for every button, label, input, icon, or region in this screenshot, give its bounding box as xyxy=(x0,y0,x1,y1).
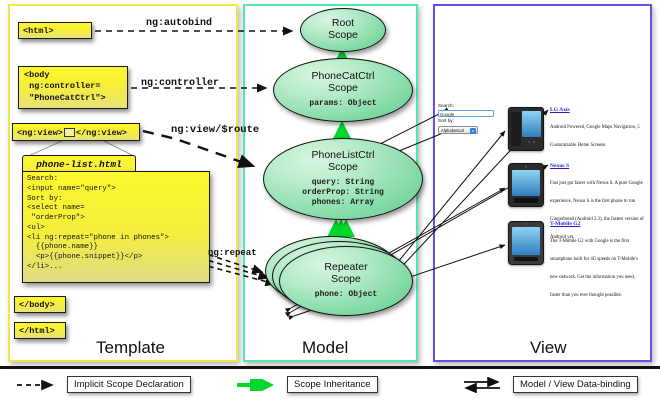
scope-phonecatctrl-name: PhoneCatCtrl Scope xyxy=(311,71,374,95)
scope-repeater-name: Repeater Scope xyxy=(324,262,367,286)
file-note-phone-list: phone-list.html Search: <input name="que… xyxy=(22,155,200,285)
search-input[interactable]: Google xyxy=(438,110,494,117)
phone-snippet: Android Powered, Google Maps Navigation,… xyxy=(550,125,640,148)
code-box-body-close: </body> xyxy=(14,296,66,313)
diagram-canvas: Template Model View xyxy=(0,0,660,405)
ngview-slot-icon xyxy=(64,128,75,137)
panel-template-label: Template xyxy=(96,338,165,358)
code-box-html-close: </html> xyxy=(14,322,66,339)
sort-select[interactable]: Alphabetical xyxy=(438,126,478,134)
panel-view-label: View xyxy=(530,338,567,358)
legend-label: Implicit Scope Declaration xyxy=(67,376,191,393)
ngview-open-tag: <ng:view> xyxy=(17,128,63,138)
chevron-updown-icon xyxy=(470,128,476,134)
phone-name-link[interactable]: LG Axis xyxy=(550,107,644,113)
scope-phonelistctrl-name: PhoneListCtrl Scope xyxy=(311,150,374,174)
code-box-html-open: <html> xyxy=(18,22,92,39)
legend-divider xyxy=(0,366,660,369)
phone-thumbnail-icon xyxy=(508,221,544,265)
code-box-body-open: <body ng:controller= "PhoneCatCtrl"> xyxy=(18,66,128,109)
label-ng-repeat: ng:repeat xyxy=(208,248,257,258)
sort-select-value: Alphabetical xyxy=(441,128,464,133)
scope-phonelistctrl: PhoneListCtrl Scope query: String orderP… xyxy=(263,138,423,220)
phone-name-link[interactable]: T-Mobile G2 xyxy=(550,221,644,227)
scope-phonecatctrl-props: params: Object xyxy=(309,99,376,109)
scope-phonelistctrl-props: query: String orderProp: String phones: … xyxy=(302,178,384,208)
phone-list-item[interactable]: T-Mobile G2 The T-Mobile G2 with Google … xyxy=(508,221,644,301)
code-box-ng-view: <ng:view></ng:view> xyxy=(12,123,140,141)
panel-model-label: Model xyxy=(302,338,348,358)
double-arrow-icon xyxy=(462,377,506,393)
label-ng-autobind: ng:autobind xyxy=(146,18,212,29)
label-ng-controller: ng:controller xyxy=(141,78,219,89)
scope-root: Root Scope xyxy=(300,8,386,52)
legend-label: Model / View Data-binding xyxy=(513,376,638,393)
view-search-form: Search: Google Sort by: Alphabetical xyxy=(438,103,500,134)
scope-repeater-props: phone: Object xyxy=(315,290,377,300)
legend-item-implicit-scope: Implicit Scope Declaration xyxy=(16,376,191,393)
sort-label: Sort by: xyxy=(438,118,500,125)
green-arrow-icon xyxy=(236,379,280,391)
scope-phonecatctrl: PhoneCatCtrl Scope params: Object xyxy=(273,58,413,122)
phone-snippet: The T-Mobile G2 with Google is the first… xyxy=(550,239,638,298)
ngview-close-tag: </ng:view> xyxy=(76,128,127,138)
legend-item-data-binding: Model / View Data-binding xyxy=(462,376,638,393)
phone-name-link[interactable]: Nexus S xyxy=(550,163,644,169)
legend: Implicit Scope Declaration Scope Inherit… xyxy=(0,370,660,405)
file-note-code: Search: <input name="query"> Sort by: <s… xyxy=(22,171,210,283)
legend-item-scope-inheritance: Scope Inheritance xyxy=(236,376,378,393)
dashed-arrow-icon xyxy=(16,379,60,391)
legend-label: Scope Inheritance xyxy=(287,376,378,393)
phone-thumbnail-icon xyxy=(508,107,544,151)
scope-root-name: Root Scope xyxy=(328,18,358,42)
phone-thumbnail-icon xyxy=(508,163,544,207)
scope-repeater: Repeater Scope phone: Object xyxy=(279,246,413,316)
search-label: Search: xyxy=(438,103,500,110)
phone-list-item[interactable]: LG Axis Android Powered, Google Maps Nav… xyxy=(508,107,644,151)
label-ng-view-route: ng:view/$route xyxy=(171,124,259,136)
